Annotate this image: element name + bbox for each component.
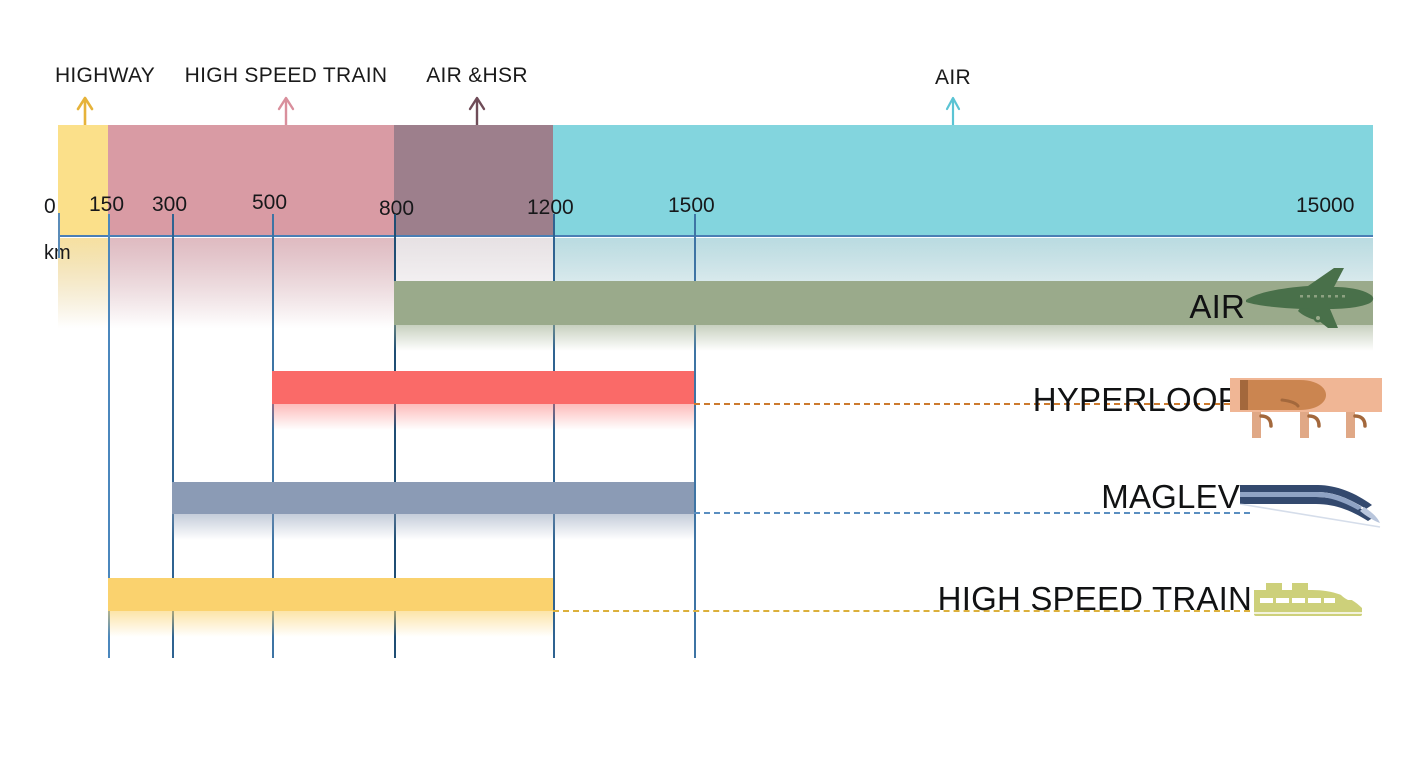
band-reflection-hst xyxy=(108,238,394,328)
tick-label-300: 300 xyxy=(152,193,187,217)
marker-label-air-hsr: AIR &HSR xyxy=(426,64,528,88)
airplane-icon xyxy=(1238,262,1378,334)
marker-label-high-speed-train: HIGH SPEED TRAIN xyxy=(185,64,388,88)
tick-label-500: 500 xyxy=(252,191,287,215)
mode-name-high-speed-train: HIGH SPEED TRAIN xyxy=(938,580,1252,618)
tick-label-800: 800 xyxy=(379,197,414,221)
marker-label-air: AIR xyxy=(935,66,971,90)
mode-name-air: AIR xyxy=(1189,288,1245,326)
bar-high-speed-train-reflection xyxy=(108,611,553,637)
band-segment-air xyxy=(553,125,1373,236)
marker-label-highway: HIGHWAY xyxy=(55,64,155,88)
bar-high-speed-train[interactable] xyxy=(108,578,553,611)
gridline-0 xyxy=(58,213,60,258)
tick-label-1200: 1200 xyxy=(527,196,574,220)
tick-label-150: 150 xyxy=(89,193,124,217)
bar-maglev[interactable] xyxy=(172,482,694,514)
distance-scale-band xyxy=(58,125,1373,236)
hyperloop-pod-icon xyxy=(1230,370,1382,442)
bar-hyperloop-reflection xyxy=(272,404,694,430)
band-segment-high-speed-train xyxy=(108,125,394,236)
infographic-canvas: HIGHWAY HIGH SPEED TRAIN AIR &HSR AIR xyxy=(0,0,1415,766)
tick-label-15000: 15000 xyxy=(1296,194,1354,218)
mode-name-hyperloop: HYPERLOOP xyxy=(1033,381,1240,419)
maglev-train-icon xyxy=(1240,477,1380,533)
tick-label-1500: 1500 xyxy=(668,194,715,218)
scale-baseline xyxy=(58,235,1373,237)
bar-air-reflection xyxy=(394,325,1373,351)
mode-name-maglev: MAGLEV xyxy=(1101,478,1240,516)
bullet-train-icon xyxy=(1252,578,1364,618)
bar-maglev-reflection xyxy=(172,514,694,540)
tick-label-0: 0 xyxy=(44,195,56,219)
bar-hyperloop[interactable] xyxy=(272,371,694,404)
band-segment-highway xyxy=(58,125,108,236)
